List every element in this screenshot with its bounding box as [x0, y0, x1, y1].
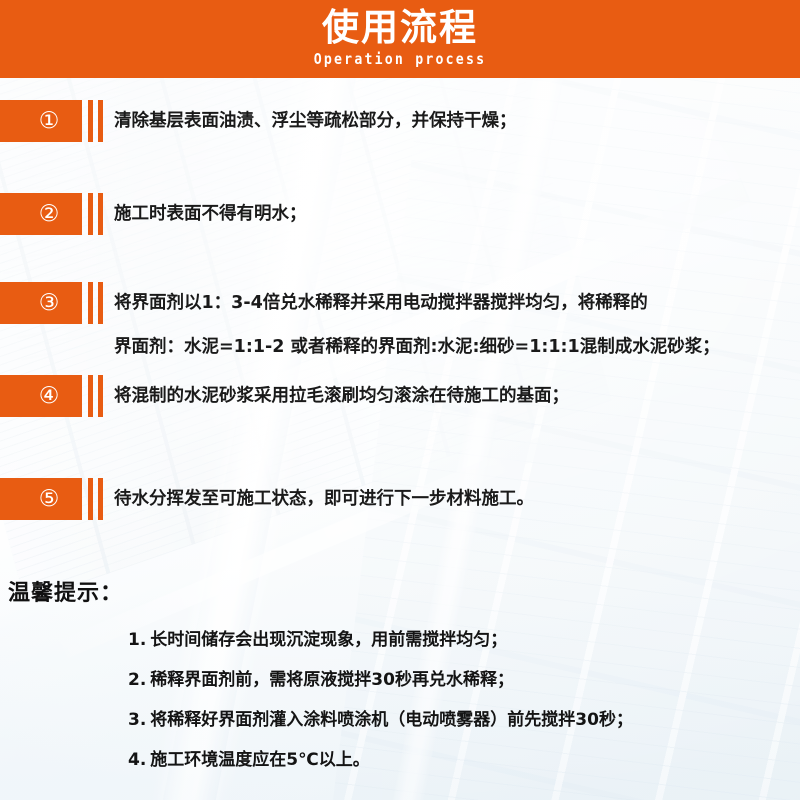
page-subtitle: Operation process: [48, 50, 752, 68]
step-bar-inner-3: [98, 282, 103, 324]
step-badge-block-4: ④: [0, 375, 82, 417]
step-line: 界面剂：水泥=1:1-2 或者稀释的界面剂:水泥:细砂=1:1:1混制成水泥砂浆…: [114, 324, 800, 370]
step-row-4: ④ 将混制的水泥砂浆采用拉毛滚刷均匀滚涂在待施工的基面；: [0, 375, 800, 417]
step-badge-3: ③: [0, 282, 106, 324]
step-badge-4: ④: [0, 375, 106, 417]
step-badge-block-5: ⑤: [0, 478, 82, 520]
tips-item-text: 稀释界面剂前，需将原液搅拌30秒再兑水稀释；: [150, 665, 514, 690]
step-badge-block-1: ①: [0, 100, 82, 142]
operation-process-poster: 使用流程 Operation process ① 清除基层表面油渍、浮尘等疏松部…: [0, 0, 800, 800]
header-banner: 使用流程 Operation process: [0, 0, 800, 78]
step-text-2: 施工时表面不得有明水；: [106, 193, 800, 235]
step-bar-inner-2: [98, 193, 103, 235]
tips-item: 4. 施工环境温度应在5℃以上。: [128, 745, 800, 785]
step-number-4: ④: [23, 385, 60, 408]
step-badge-block-3: ③: [0, 282, 82, 324]
tips-item-index: 3.: [128, 710, 146, 730]
tips-title: 温馨提示：: [8, 575, 800, 607]
step-line: 将混制的水泥砂浆采用拉毛滚刷均匀滚涂在待施工的基面；: [114, 375, 800, 417]
step-text-3: 将界面剂以1：3-4倍兑水稀释并采用电动搅拌器搅拌均匀，将稀释的 界面剂：水泥=…: [106, 282, 800, 370]
tips-item-text: 施工环境温度应在5℃以上。: [150, 745, 369, 770]
tips-item: 1. 长时间储存会出现沉淀现象，用前需搅拌均匀；: [128, 625, 800, 665]
tips-item: 2. 稀释界面剂前，需将原液搅拌30秒再兑水稀释；: [128, 665, 800, 705]
tips-section: 温馨提示： 1. 长时间储存会出现沉淀现象，用前需搅拌均匀； 2. 稀释界面剂前…: [0, 575, 800, 785]
step-bar-outer-1: [88, 100, 93, 142]
step-line: 清除基层表面油渍、浮尘等疏松部分，并保持干燥；: [114, 100, 800, 142]
tips-list: 1. 长时间储存会出现沉淀现象，用前需搅拌均匀； 2. 稀释界面剂前，需将原液搅…: [0, 625, 800, 785]
step-number-2: ②: [23, 203, 60, 226]
step-line: 将界面剂以1：3-4倍兑水稀释并采用电动搅拌器搅拌均匀，将稀释的: [114, 282, 800, 324]
tips-item-text: 长时间储存会出现沉淀现象，用前需搅拌均匀；: [150, 625, 507, 650]
step-bar-outer-2: [88, 193, 93, 235]
step-row-3: ③ 将界面剂以1：3-4倍兑水稀释并采用电动搅拌器搅拌均匀，将稀释的 界面剂：水…: [0, 282, 800, 370]
step-number-3: ③: [23, 292, 60, 315]
step-row-5: ⑤ 待水分挥发至可施工状态，即可进行下一步材料施工。: [0, 478, 800, 520]
tips-item: 3. 将稀释好界面剂灌入涂料喷涂机（电动喷雾器）前先搅拌30秒；: [128, 705, 800, 745]
step-row-2: ② 施工时表面不得有明水；: [0, 193, 800, 235]
step-bar-outer-5: [88, 478, 93, 520]
step-text-5: 待水分挥发至可施工状态，即可进行下一步材料施工。: [106, 478, 800, 520]
tips-item-index: 4.: [128, 750, 146, 770]
step-bar-inner-1: [98, 100, 103, 142]
step-text-4: 将混制的水泥砂浆采用拉毛滚刷均匀滚涂在待施工的基面；: [106, 375, 800, 417]
step-row-1: ① 清除基层表面油渍、浮尘等疏松部分，并保持干燥；: [0, 100, 800, 142]
step-bar-inner-5: [98, 478, 103, 520]
step-bar-inner-4: [98, 375, 103, 417]
tips-item-text: 将稀释好界面剂灌入涂料喷涂机（电动喷雾器）前先搅拌30秒；: [150, 705, 633, 730]
step-badge-block-2: ②: [0, 193, 82, 235]
step-bar-outer-4: [88, 375, 93, 417]
step-badge-2: ②: [0, 193, 106, 235]
step-badge-1: ①: [0, 100, 106, 142]
step-number-5: ⑤: [23, 488, 60, 511]
step-number-1: ①: [23, 110, 60, 133]
step-bar-outer-3: [88, 282, 93, 324]
tips-item-index: 2.: [128, 670, 146, 690]
step-badge-5: ⑤: [0, 478, 106, 520]
page-title: 使用流程: [0, 0, 800, 50]
tips-item-index: 1.: [128, 630, 146, 650]
step-text-1: 清除基层表面油渍、浮尘等疏松部分，并保持干燥；: [106, 100, 800, 142]
step-line: 待水分挥发至可施工状态，即可进行下一步材料施工。: [114, 478, 800, 520]
step-line: 施工时表面不得有明水；: [114, 193, 800, 235]
